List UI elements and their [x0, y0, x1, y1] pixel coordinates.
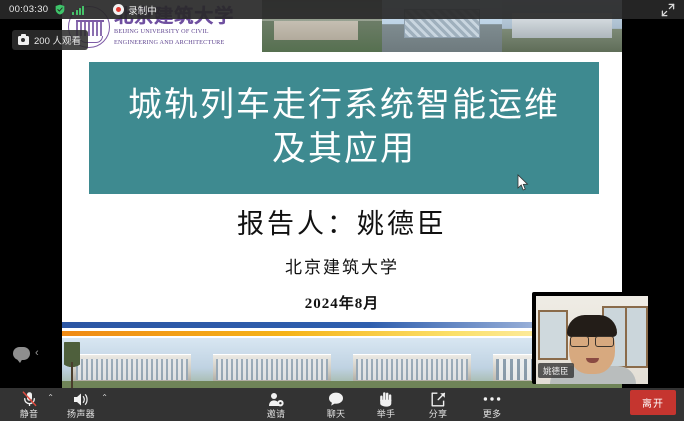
shield-icon[interactable]: [55, 4, 65, 15]
speaker-label: 扬声器: [67, 410, 95, 419]
raise-hand-button[interactable]: 举手: [360, 391, 412, 419]
more-label: 更多: [483, 410, 502, 419]
chevron-left-icon: ‹: [35, 348, 39, 359]
invite-label: 邀请: [267, 410, 286, 419]
fullscreen-expand-icon[interactable]: [661, 3, 675, 17]
campus-photo-3: [342, 338, 482, 388]
mute-button[interactable]: 静音 ⌃: [3, 391, 55, 419]
mute-options-chevron-icon[interactable]: ⌃: [47, 393, 54, 402]
speaker-options-chevron-icon[interactable]: ⌃: [101, 393, 108, 402]
camera-icon: [18, 36, 29, 45]
share-label: 分享: [429, 410, 448, 419]
speaker-button[interactable]: 扬声器 ⌃: [55, 391, 107, 419]
self-video-thumbnail[interactable]: 姚德臣: [532, 292, 680, 384]
presenter-name: 报告人：姚德臣: [62, 208, 622, 242]
viewer-count-label: 200 人观看: [34, 33, 81, 47]
university-name-en-line1: BEIJING UNIVERSITY OF CIVIL: [114, 28, 234, 36]
meeting-status-bar: 00:03:30 录制中: [0, 0, 684, 19]
leave-meeting-button[interactable]: 离开: [630, 390, 676, 415]
slide-title: 城轨列车走行系统智能运维及其应用: [115, 84, 573, 171]
share-button[interactable]: 分享: [412, 391, 464, 419]
raise-hand-label: 举手: [377, 410, 396, 419]
raise-hand-icon: [379, 391, 393, 407]
signal-bars-icon: [72, 5, 84, 15]
campus-photo-2: [202, 338, 342, 388]
presenter-affiliation: 北京建筑大学: [62, 253, 622, 278]
chat-button[interactable]: 聊天: [310, 391, 362, 419]
chat-panel-toggle[interactable]: ‹: [13, 347, 39, 360]
viewer-count-badge[interactable]: 200 人观看: [12, 30, 88, 50]
share-screen-icon: [431, 391, 446, 407]
meeting-window: 北京建筑大学 BEIJING UNIVERSITY OF CIVIL ENGIN…: [0, 0, 684, 421]
recording-indicator: 录制中: [113, 3, 157, 17]
meeting-toolbar: 静音 ⌃ 扬声器 ⌃ 邀请: [0, 388, 684, 421]
record-dot-icon: [113, 4, 124, 15]
mute-label: 静音: [20, 410, 39, 419]
university-name-en-line2: ENGINEERING AND ARCHITECTURE: [114, 39, 234, 47]
recording-label: 录制中: [128, 3, 157, 17]
slide-title-box: 城轨列车走行系统智能运维及其应用: [89, 62, 599, 194]
invite-button[interactable]: 邀请: [250, 391, 302, 419]
video-participant-name: 姚德臣: [538, 363, 574, 378]
more-button[interactable]: 更多: [466, 391, 518, 419]
meeting-timer: 00:03:30: [9, 4, 48, 15]
more-ellipsis-icon: [483, 391, 501, 407]
invite-person-icon: [268, 391, 284, 407]
microphone-muted-icon: [22, 391, 37, 407]
chat-bubble-icon: [328, 391, 344, 407]
campus-photo-1: [62, 338, 202, 388]
chat-label: 聊天: [327, 410, 346, 419]
chat-bubble-icon: [13, 347, 30, 360]
speaker-icon: [73, 391, 90, 407]
